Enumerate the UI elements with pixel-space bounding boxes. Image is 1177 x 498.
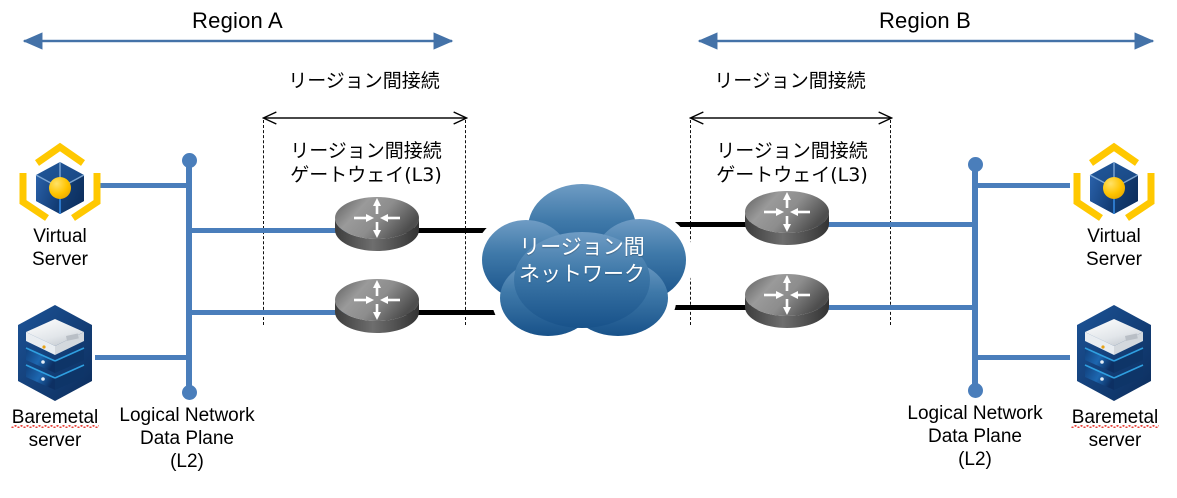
- region-a-interconnect-title: リージョン間接続: [263, 70, 465, 92]
- baremetal-word-a: Baremetal: [12, 406, 99, 429]
- region-b-interconnect-title: リージョン間接続: [690, 70, 890, 92]
- region-b-baremetal-label: Baremetalserver: [1060, 406, 1170, 452]
- region-a-data-plane-label: Logical Network Data Plane (L2): [113, 404, 261, 474]
- region-a-gateway-router-2[interactable]: [334, 274, 420, 336]
- region-a-bm-link: [95, 355, 190, 360]
- region-b-gateway-router-2[interactable]: [744, 269, 830, 331]
- server-word-b: server: [1089, 430, 1142, 451]
- region-b-gw2-bus-link: [818, 305, 976, 310]
- region-b-virtual-server-icon[interactable]: [1068, 140, 1160, 236]
- region-b-vs-link: [975, 183, 1070, 188]
- server-word-a: server: [29, 430, 82, 451]
- region-b-bm-link: [975, 355, 1070, 360]
- region-a-virtual-server-label: Virtual Server: [5, 225, 115, 271]
- region-a-bus-top-dot: [182, 153, 197, 168]
- baremetal-word-b: Baremetal: [1072, 406, 1159, 429]
- region-b-gateway-label: リージョン間接続 ゲートウェイ(L3): [694, 140, 890, 188]
- region-b-bus-bottom-dot: [968, 383, 983, 398]
- region-a-gw-boundary-left: [263, 120, 264, 325]
- network-architecture-diagram: Region A Region B リージョン間接続 リージョン間接続: [0, 0, 1177, 498]
- region-a-bus-bottom-dot: [182, 385, 197, 400]
- region-b-interconnect-arrow: [682, 108, 900, 128]
- region-b-bus-top-dot: [968, 157, 983, 172]
- region-a-interconnect-arrow: [255, 108, 475, 128]
- cloud-label: リージョン間 ネットワーク: [462, 234, 702, 289]
- region-a-vs-link: [100, 183, 190, 188]
- region-b-baremetal-server-icon[interactable]: [1073, 303, 1155, 403]
- inter-region-network-cloud: リージョン間 ネットワーク: [462, 168, 702, 350]
- region-b-gateway-router-1[interactable]: [744, 186, 830, 248]
- region-b-gw1-bus-link: [818, 222, 976, 227]
- region-b-data-plane-label: Logical Network Data Plane (L2): [901, 402, 1049, 472]
- region-b-span-arrow: [685, 31, 1167, 51]
- region-a-span-arrow: [10, 31, 466, 51]
- region-b-virtual-server-label: Virtual Server: [1059, 225, 1169, 271]
- region-a-bus-gw1-link: [188, 228, 348, 233]
- region-a-gateway-label: リージョン間接続 ゲートウェイ(L3): [268, 140, 464, 188]
- region-a-gateway-router-1[interactable]: [334, 192, 420, 254]
- region-a-bus-gw2-link: [188, 310, 348, 315]
- region-a-virtual-server-icon[interactable]: [14, 140, 106, 236]
- region-a-baremetal-server-icon[interactable]: [14, 303, 96, 403]
- region-a-baremetal-label: Baremetalserver: [0, 406, 110, 452]
